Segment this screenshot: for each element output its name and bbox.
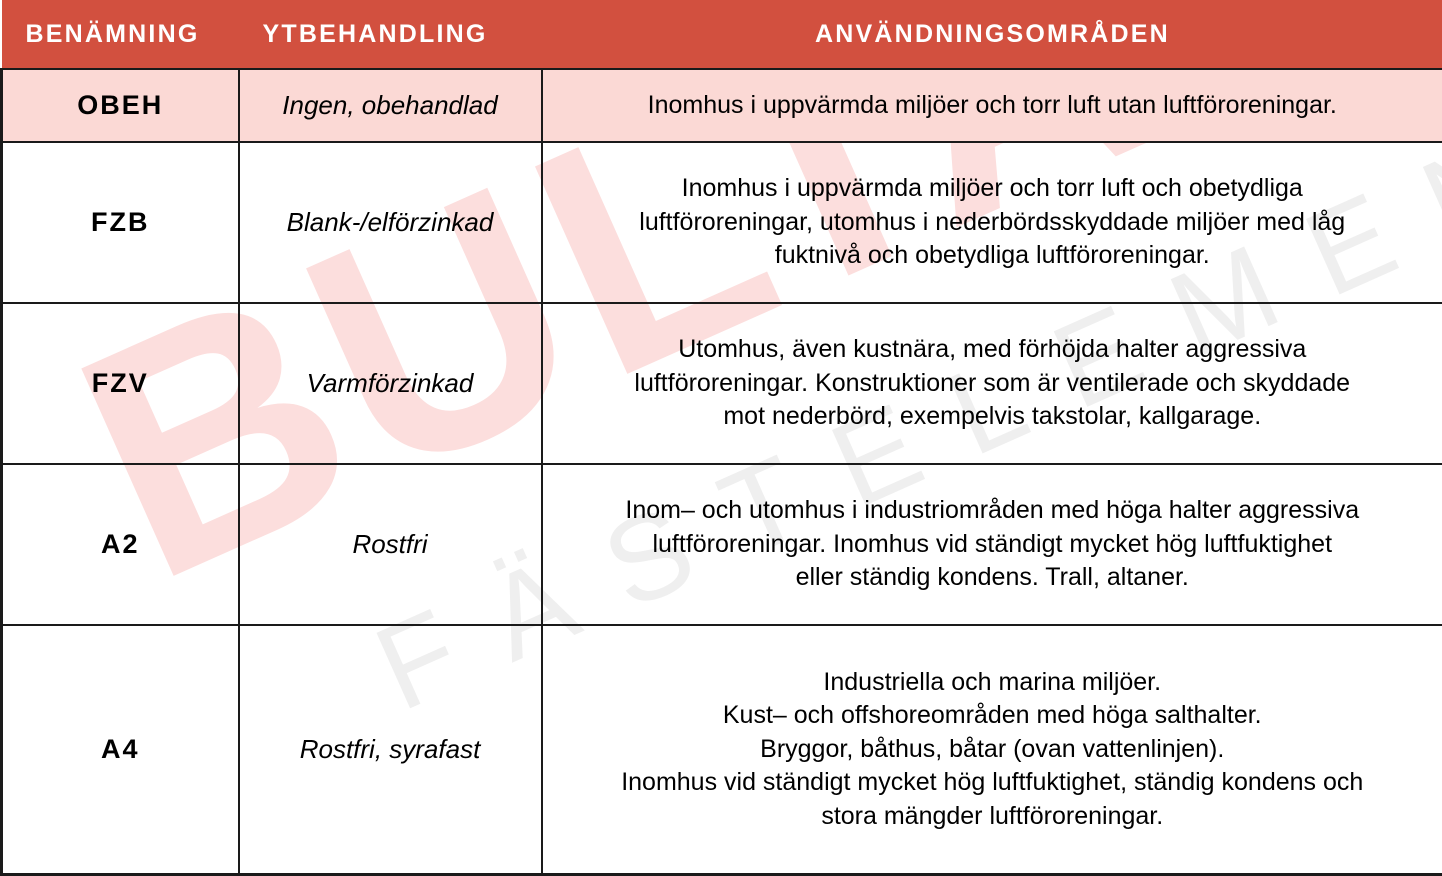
cell-usage: Inomhus i uppvärmda miljöer och torr luf… — [542, 69, 1442, 142]
table-row: A4 Rostfri, syrafast Industriella och ma… — [2, 625, 1442, 875]
cell-usage: Utomhus, även kustnära, med förhöjda hal… — [542, 303, 1442, 464]
usage-line: Inomhus vid ständigt mycket hög luftfukt… — [567, 766, 1419, 800]
cell-code: FZV — [2, 303, 239, 464]
table-row: FZB Blank-/elförzinkad Inomhus i uppvärm… — [2, 142, 1442, 303]
cell-treatment: Rostfri — [239, 464, 542, 625]
table-body: OBEH Ingen, obehandlad Inomhus i uppvärm… — [2, 69, 1442, 875]
surface-treatment-table: BENÄMNING YTBEHANDLING ANVÄNDNINGSOMRÅDE… — [0, 0, 1442, 876]
cell-treatment: Blank-/elförzinkad — [239, 142, 542, 303]
usage-line: Utomhus, även kustnära, med förhöjda hal… — [567, 333, 1419, 367]
cell-usage: Inom– och utomhus i industriområden med … — [542, 464, 1442, 625]
usage-line: fuktnivå och obetydliga luftföroreningar… — [567, 239, 1419, 273]
usage-line: luftföroreningar. Inomhus vid ständigt m… — [567, 528, 1419, 562]
cell-code: OBEH — [2, 69, 239, 142]
usage-line: luftföroreningar, utomhus i nederbördssk… — [567, 206, 1419, 240]
table-row: FZV Varmförzinkad Utomhus, även kustnära… — [2, 303, 1442, 464]
usage-line: Inom– och utomhus i industriområden med … — [567, 494, 1419, 528]
cell-code: A2 — [2, 464, 239, 625]
usage-line: Inomhus i uppvärmda miljöer och torr luf… — [567, 172, 1419, 206]
usage-line: Inomhus i uppvärmda miljöer och torr luf… — [567, 89, 1419, 123]
table-row: OBEH Ingen, obehandlad Inomhus i uppvärm… — [2, 69, 1442, 142]
usage-line: luftföroreningar. Konstruktioner som är … — [567, 367, 1419, 401]
usage-line: Kust– och offshoreområden med höga salth… — [567, 699, 1419, 733]
table-header-row: BENÄMNING YTBEHANDLING ANVÄNDNINGSOMRÅDE… — [2, 0, 1442, 69]
usage-line: eller ständig kondens. Trall, altaner. — [567, 561, 1419, 595]
cell-treatment: Varmförzinkad — [239, 303, 542, 464]
cell-code: A4 — [2, 625, 239, 875]
cell-treatment: Rostfri, syrafast — [239, 625, 542, 875]
column-header-ytbehandling: YTBEHANDLING — [239, 0, 542, 69]
cell-usage: Inomhus i uppvärmda miljöer och torr luf… — [542, 142, 1442, 303]
table-row: A2 Rostfri Inom– och utomhus i industrio… — [2, 464, 1442, 625]
column-header-benamning: BENÄMNING — [2, 0, 239, 69]
cell-code: FZB — [2, 142, 239, 303]
usage-line: Industriella och marina miljöer. — [567, 666, 1419, 700]
usage-line: Bryggor, båthus, båtar (ovan vattenlinje… — [567, 733, 1419, 767]
usage-line: mot nederbörd, exempelvis takstolar, kal… — [567, 400, 1419, 434]
column-header-anvandningsomraden: ANVÄNDNINGSOMRÅDEN — [542, 0, 1442, 69]
surface-treatment-table-container: BENÄMNING YTBEHANDLING ANVÄNDNINGSOMRÅDE… — [0, 0, 1442, 876]
usage-line: stora mängder luftföroreningar. — [567, 800, 1419, 834]
page-root: BULTAB FÄSTELEMENT BENÄMNING YTBEHANDLIN… — [0, 0, 1442, 876]
table-header: BENÄMNING YTBEHANDLING ANVÄNDNINGSOMRÅDE… — [2, 0, 1442, 69]
cell-usage: Industriella och marina miljöer. Kust– o… — [542, 625, 1442, 875]
cell-treatment: Ingen, obehandlad — [239, 69, 542, 142]
